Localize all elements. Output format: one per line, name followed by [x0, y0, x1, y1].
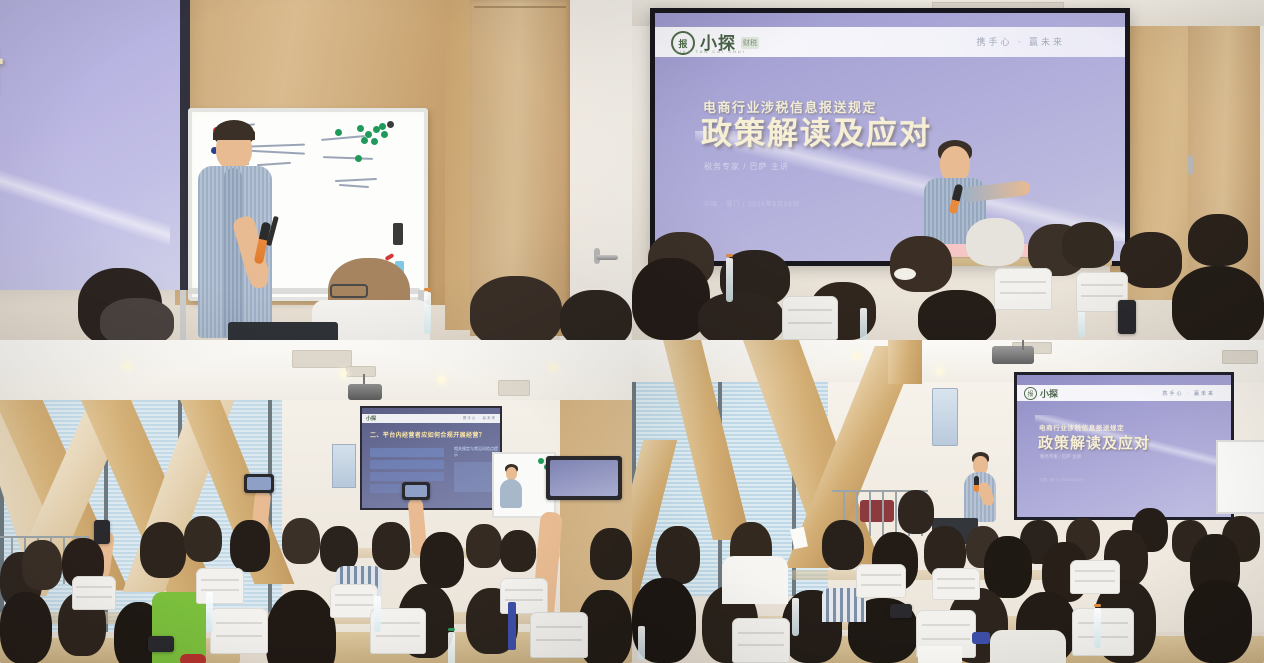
- audience-head: [466, 524, 502, 568]
- logo-subline: XIAO TAN CAI SHUI: [675, 49, 746, 54]
- audience-head: [656, 526, 700, 584]
- architectural-column: [888, 340, 922, 384]
- content-slide-heading: 二、平台内经营者应如何合规开展经营？: [370, 430, 485, 439]
- slide-presenter-line: 税务专家 / 巴萨 主讲: [1040, 454, 1081, 460]
- ceiling-light: [550, 364, 557, 371]
- audience-head: [500, 530, 536, 572]
- audience-head: [1062, 222, 1114, 268]
- magnet-green: [381, 131, 388, 138]
- room-background: 小探 携手心 · 赢未来 二、平台内经营者应如何合规开展经营？ 相关规定与常见风…: [0, 340, 632, 663]
- panel-speaker-at-whiteboard: 对: [0, 0, 632, 340]
- calligraphy-tagline: 携手心 · 赢未来: [977, 35, 1066, 48]
- slide-title: 政策解读及应对: [701, 117, 932, 150]
- water-bottle: [638, 626, 645, 660]
- calligraphy-tagline: 携手心 · 赢未来: [1163, 390, 1215, 397]
- logo-badge: 财税: [741, 37, 759, 49]
- audience-head: [470, 276, 562, 340]
- logo-wordmark: 小探: [1040, 387, 1058, 400]
- ceiling-light: [936, 368, 943, 375]
- audience-head: [184, 516, 222, 562]
- mobile-phone: [890, 604, 912, 618]
- paper-sheet: [918, 646, 962, 663]
- room-background: 报 小探 携手心 · 赢未来 电商行业涉税信息报送规定 政策解读及应对 税务专家…: [632, 340, 1264, 663]
- audience-head: [1120, 232, 1182, 288]
- chair: [994, 268, 1052, 310]
- ceiling-vent: [346, 366, 376, 377]
- audience-head: [1188, 214, 1248, 266]
- ceiling-projector: [348, 384, 382, 400]
- chair: [1072, 608, 1134, 656]
- bottle-cap: [726, 254, 733, 257]
- audience-head: [822, 520, 864, 570]
- slide-calligraphy: 携手心 · 赢未来: [463, 416, 496, 421]
- magnet-dark: [387, 121, 394, 128]
- magnet-green: [355, 155, 362, 162]
- whiteboard-eraser: [393, 223, 403, 245]
- magnet-green: [361, 137, 368, 144]
- speaker-far: [500, 464, 522, 508]
- ceiling-light: [340, 370, 347, 377]
- audience-head: [1184, 580, 1252, 663]
- audience-head: [372, 522, 410, 570]
- audience-head: [1172, 266, 1264, 340]
- audience-head: [0, 592, 52, 663]
- ceiling-projector: [992, 346, 1034, 364]
- ceiling-light: [854, 352, 861, 359]
- audience-shirt: [722, 556, 788, 604]
- magnet-green: [335, 129, 342, 136]
- panel-audience-photographing-slide: 小探 携手心 · 赢未来 二、平台内经营者应如何合规开展经营？ 相关规定与常见风…: [0, 340, 632, 663]
- chair: [196, 568, 244, 604]
- chair: [210, 608, 268, 654]
- whiteboard-leg: [180, 290, 186, 340]
- eyeglasses: [330, 284, 368, 298]
- lanyard: [508, 602, 516, 650]
- slide-footer-line: 中国 · 厦门 | 2025年8月28日: [1040, 478, 1084, 483]
- whiteboard: [1216, 440, 1264, 514]
- panel-room-wide-with-title-slide: 报 小探 携手心 · 赢未来 电商行业涉税信息报送规定 政策解读及应对 税务专家…: [632, 340, 1264, 663]
- audience-head: [590, 528, 632, 580]
- ceiling-vent: [498, 380, 530, 396]
- water-bottle: [448, 632, 455, 663]
- audience-head: [898, 490, 934, 534]
- slide-kicker: 电商行业涉税信息报送规定: [1039, 422, 1124, 432]
- audience-head: [560, 290, 632, 340]
- water-bottle: [424, 292, 431, 334]
- hair-clip: [894, 268, 916, 280]
- magnet-green: [379, 123, 386, 130]
- light-beam: [0, 140, 170, 250]
- ceiling-vent: [292, 350, 352, 368]
- presenter: [962, 452, 998, 522]
- audience-head: [698, 292, 784, 340]
- photo-collage: 对: [0, 0, 1264, 663]
- magnet-green: [357, 125, 364, 132]
- water-bottle: [726, 258, 733, 302]
- chair: [856, 564, 906, 598]
- audience-head: [966, 218, 1024, 266]
- room-background: 对: [0, 0, 632, 340]
- room-background: 报 小探 财税 XIAO TAN CAI SHUI 携手心 · 赢未来 电商行业…: [632, 0, 1264, 340]
- magnet-green: [538, 458, 544, 464]
- audience-shirt: [990, 630, 1066, 663]
- ceiling-vent: [1222, 350, 1258, 364]
- audience-head: [282, 518, 320, 564]
- audience-head: [140, 522, 186, 578]
- laptop: [228, 322, 338, 340]
- door-handle: [1188, 155, 1193, 175]
- phone-screen: [405, 485, 427, 497]
- phone-screen: [550, 460, 618, 496]
- water-bottle: [206, 592, 213, 632]
- projection-screen: 报 小探 携手心 · 赢未来 电商行业涉税信息报送规定 政策解读及应对 税务专家…: [1014, 372, 1234, 520]
- audience-head: [266, 590, 336, 663]
- blue-object: [972, 632, 990, 644]
- projection-screen: 小探 携手心 · 赢未来 二、平台内经营者应如何合规开展经营？ 相关规定与常见风…: [360, 406, 502, 510]
- magnet-green: [371, 138, 378, 145]
- projection-screen-fragment: 对: [0, 0, 190, 290]
- water-bottle: [792, 598, 799, 636]
- mobile-phone: [94, 520, 110, 544]
- panel-speaker-with-title-slide: 报 小探 财税 XIAO TAN CAI SHUI 携手心 · 赢未来 电商行业…: [632, 0, 1264, 340]
- phone-screen: [247, 477, 271, 490]
- chair: [782, 296, 838, 340]
- audience-head: [420, 532, 464, 588]
- audience-head: [230, 520, 270, 572]
- slide-fragment-text: 对: [0, 48, 5, 100]
- slide-title: 政策解读及应对: [1038, 432, 1150, 453]
- chair: [732, 618, 790, 663]
- ceiling: [0, 340, 632, 400]
- door-trim: [474, 6, 566, 8]
- slide-kicker: 电商行业涉税信息报送规定: [703, 97, 877, 116]
- chair: [1070, 560, 1120, 594]
- slide-footer-line: 中国 · 厦门 | 2025年8月28日: [704, 199, 800, 208]
- chair: [530, 612, 588, 658]
- chair: [72, 576, 116, 610]
- wall-control-panel: [932, 388, 958, 446]
- bottle-cap: [424, 288, 431, 291]
- white-wall: [560, 0, 632, 340]
- handheld-microphone: [974, 476, 979, 492]
- bottle-cap: [1094, 604, 1101, 607]
- audience-head: [22, 540, 62, 590]
- audience-head: [984, 536, 1032, 598]
- wall-control-panel: [332, 444, 356, 488]
- title-slide: 报 小探 携手心 · 赢未来 电商行业涉税信息报送规定 政策解读及应对 税务专家…: [1017, 375, 1231, 517]
- mobile-phone: [1118, 300, 1136, 334]
- bottle-cap: [448, 628, 455, 631]
- red-object: [180, 654, 206, 663]
- audience-head: [890, 236, 952, 292]
- door-handle: [596, 255, 618, 260]
- chair: [932, 568, 980, 600]
- brand-logo: 报 小探: [1024, 387, 1058, 400]
- seal-icon: 报: [1024, 387, 1037, 400]
- water-bottle: [374, 596, 381, 632]
- mobile-phone: [148, 636, 174, 652]
- ceiling-light: [124, 362, 131, 369]
- ceiling-light: [438, 376, 445, 383]
- slide-logo: 小探: [366, 415, 376, 422]
- water-bottle: [1094, 608, 1101, 648]
- water-bottle: [860, 308, 867, 340]
- slide-presenter-line: 税务专家 / 巴萨 主讲: [704, 161, 789, 172]
- audience-head: [918, 290, 996, 340]
- projector-mount: [1022, 340, 1024, 350]
- audience-head: [100, 298, 174, 340]
